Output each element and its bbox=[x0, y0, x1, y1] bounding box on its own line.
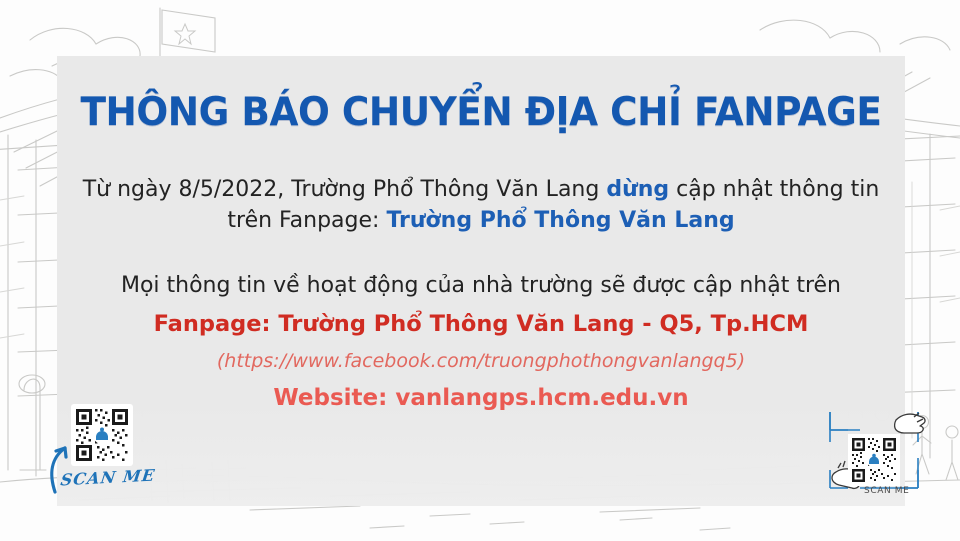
page-title: THÔNG BÁO CHUYỂN ĐỊA CHỈ FANPAGE bbox=[74, 56, 888, 134]
paragraph-two: Mọi thông tin về hoạt động của nhà trườn… bbox=[57, 270, 905, 414]
announcement-text-block: THÔNG BÁO CHUYỂN ĐỊA CHỈ FANPAGE Từ ngày… bbox=[57, 56, 905, 506]
facebook-url[interactable]: (https://www.facebook.com/truongphothong… bbox=[57, 348, 905, 375]
website-url[interactable]: Website: vanlangps.hcm.edu.vn bbox=[57, 382, 905, 415]
para1-line1-part2: cập nhật thông tin bbox=[669, 177, 879, 202]
para1-line1-part1: Từ ngày 8/5/2022, Trường Phổ Thông Văn L… bbox=[83, 177, 607, 202]
para2-line1: Mọi thông tin về hoạt động của nhà trườn… bbox=[121, 273, 841, 298]
para1-highlight-dung: dừng bbox=[606, 177, 669, 202]
paragraph-one: Từ ngày 8/5/2022, Trường Phổ Thông Văn L… bbox=[57, 174, 905, 236]
para1-line2-prefix: trên Fanpage: bbox=[227, 208, 386, 233]
qr-code-left-group[interactable]: SCAN ME bbox=[45, 396, 165, 501]
announcement-slide: THÔNG BÁO CHUYỂN ĐỊA CHỈ FANPAGE Từ ngày… bbox=[0, 0, 960, 541]
new-fanpage-line: Fanpage: Trường Phổ Thông Văn Lang - Q5,… bbox=[57, 309, 905, 341]
para1-fanpage-name: Trường Phổ Thông Văn Lang bbox=[386, 208, 734, 233]
scan-me-label-right: SCAN ME bbox=[864, 486, 909, 496]
qr-code-right-group[interactable]: SCAN ME bbox=[826, 408, 944, 506]
